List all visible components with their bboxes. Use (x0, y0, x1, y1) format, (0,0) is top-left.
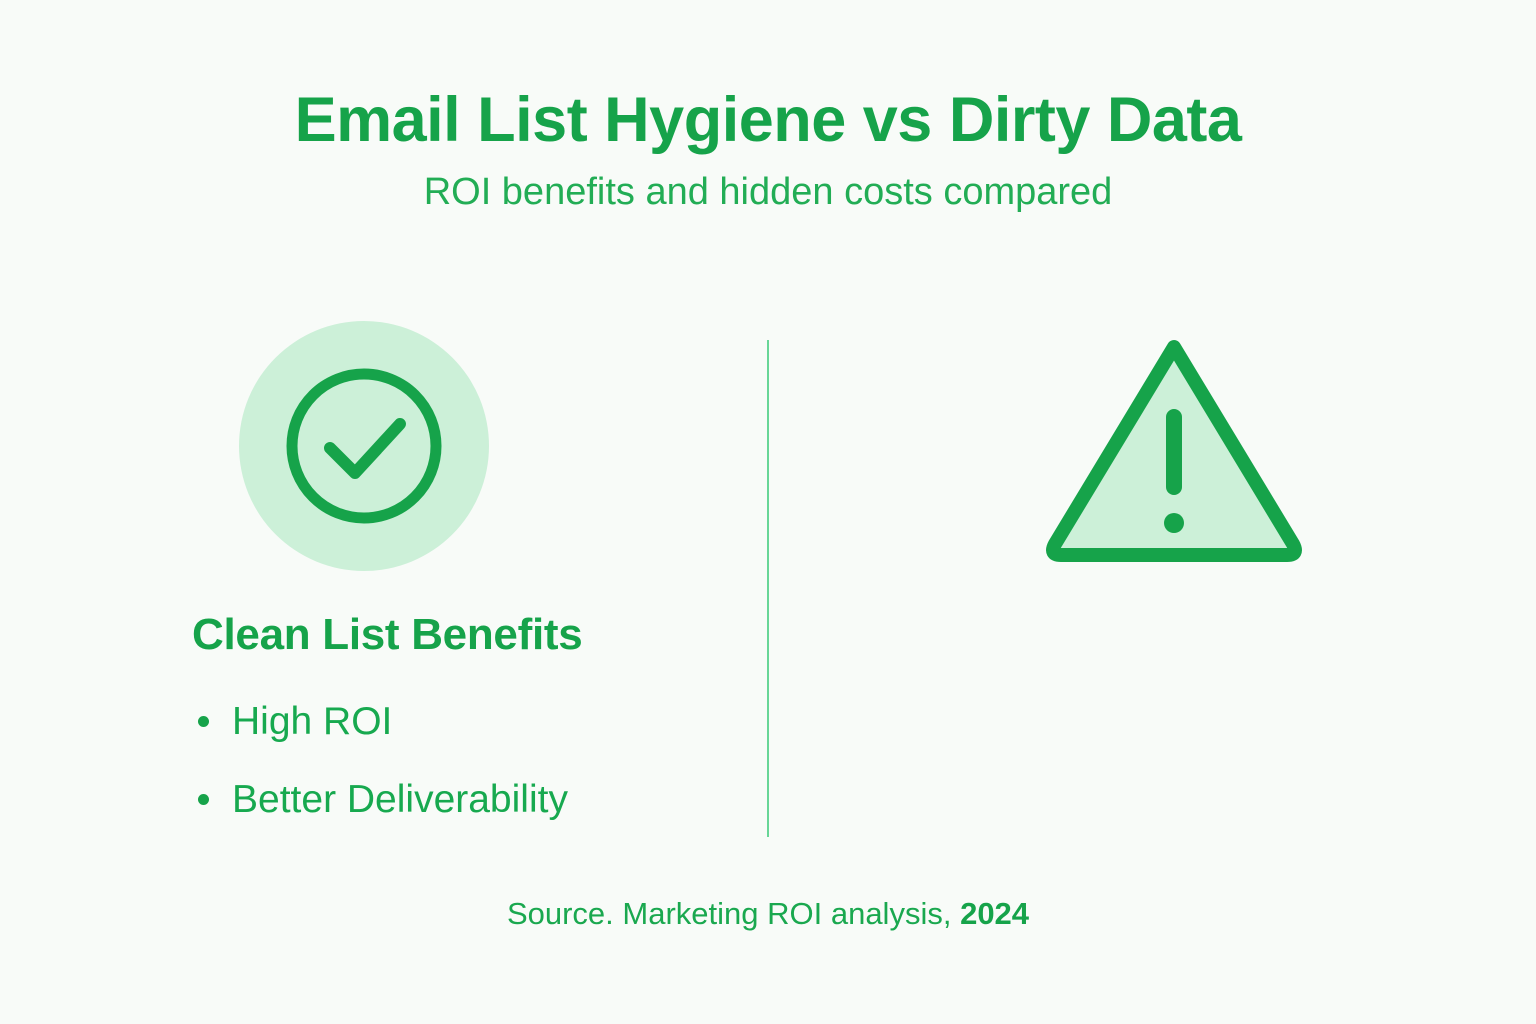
comparison-columns: Clean List Benefits High ROI Better Deli… (0, 312, 1536, 872)
page-subtitle: ROI benefits and hidden costs compared (0, 172, 1536, 214)
column-heading-right: Dirty Data Costs (768, 610, 1536, 660)
page-title: Email List Hygiene vs Dirty Data (0, 86, 1536, 154)
icon-badge-circle (239, 321, 489, 571)
column-dirty-data-costs: Dirty Data Costs Wasted Budget Complianc… (768, 312, 1536, 872)
source-footer: Source. Marketing ROI analysis, 2024 (0, 896, 1536, 932)
infographic-canvas: Email List Hygiene vs Dirty Data ROI ben… (0, 0, 1536, 1024)
list-item-label: Better Deliverability (232, 780, 568, 819)
column-heading-left: Clean List Benefits (0, 610, 768, 660)
bullet-list-right: Wasted Budget Compliance Risk (768, 682, 1536, 838)
dirty-icon-wrap (768, 312, 1536, 580)
bullet-dot-icon (198, 794, 209, 805)
clean-icon-wrap (0, 312, 768, 580)
bullet-list-left: High ROI Better Deliverability (0, 682, 768, 838)
bullet-dot-icon (198, 716, 209, 727)
header: Email List Hygiene vs Dirty Data ROI ben… (0, 86, 1536, 214)
check-circle-icon (280, 362, 448, 530)
source-text: Source. Marketing ROI analysis, (507, 896, 952, 931)
column-clean-list-benefits: Clean List Benefits High ROI Better Deli… (0, 312, 768, 872)
source-year: 2024 (960, 896, 1029, 931)
list-item-label: High ROI (232, 702, 392, 741)
list-item: Better Deliverability (198, 760, 768, 838)
list-item: High ROI (198, 682, 768, 760)
warning-triangle-icon (1041, 327, 1307, 565)
